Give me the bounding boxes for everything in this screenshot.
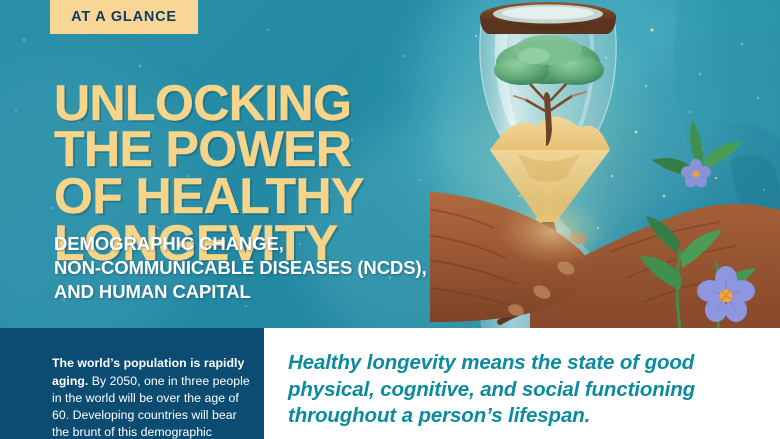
tree-canopy-left [494,55,550,85]
glass-highlight-right [568,24,592,152]
quote-line-2: physical, cognitive, and social function… [288,377,758,404]
at-a-glance-badge: AT A GLANCE [50,0,198,34]
quote-line-3: throughout a person’s lifespan. [288,403,758,430]
tree-canopy-right [548,55,604,85]
sand-mound [490,116,610,171]
fingernails [507,229,589,317]
flower-center-large [720,290,733,303]
background-shapes [620,0,780,328]
background-shadow-sweep [560,0,780,328]
leaf-7 [652,158,690,176]
tree-root-below [500,222,598,322]
sand-shadow [518,154,580,182]
leaf-3 [646,216,680,252]
tree-twigs [514,76,586,100]
healthy-longevity-definition-quote: Healthy longevity means the state of goo… [288,350,758,430]
at-a-glance-badge-label: AT A GLANCE [71,9,177,25]
lower-section: The world’s population is rapidly aging.… [0,328,780,439]
leaf-4 [714,268,756,300]
statistic-panel: The world’s population is rapidly aging.… [0,328,264,439]
quote-line-1: Healthy longevity means the state of goo… [288,350,758,377]
root-trunk [526,222,570,310]
tree-canopy-highlight [518,48,550,64]
hourglass-lower-bulb [480,200,616,328]
tree-branches [526,82,572,112]
hand-glow [498,198,606,266]
sand-funnel [490,150,610,232]
page-subtitle: DEMOGRAPHIC CHANGE, NON-COMMUNICABLE DIS… [54,232,484,304]
flower-stem-2 [716,262,720,328]
right-hand [530,204,780,328]
tree-trunk [544,92,552,146]
subtitle-line-3: AND HUMAN CAPITAL [54,280,484,304]
statistic-text: The world’s population is rapidly aging.… [52,355,257,439]
flower-stem-1 [677,250,680,328]
glass-highlight [495,26,530,158]
hourglass-rim-band [480,16,616,34]
hourglass-top-gloss [502,7,594,20]
subtitle-line-2: NON-COMMUNICABLE DISEASES (NCDs), [54,256,484,280]
blue-flower-small [681,159,711,188]
at-a-glance-infographic-page: AT A GLANCE UNLOCKING THE POWER OF HEALT… [0,0,780,439]
acacia-tree [494,35,604,146]
hourglass [480,2,616,328]
hourglass-top-rim [480,2,616,30]
plants [640,120,756,328]
blue-flower-large [697,266,755,322]
flower-center [693,171,700,178]
hourglass-top-opening [493,5,603,24]
hourglass-upper-bulb [480,16,616,200]
leaf-6 [704,142,742,170]
right-hand-creases [610,222,750,302]
leaf-2 [680,230,722,268]
title-line-3: OF HEALTHY [54,173,474,220]
tree-canopy-main [496,40,600,84]
subtitle-line-1: DEMOGRAPHIC CHANGE, [54,232,484,256]
tree-canopy-top [514,35,582,65]
hero-banner: AT A GLANCE UNLOCKING THE POWER OF HEALT… [0,0,780,328]
leaf-5 [690,120,703,166]
title-line-1: UNLOCKING [54,80,474,127]
title-line-2: THE POWER [54,126,474,173]
root-spread [500,310,598,322]
leaf-1 [640,256,682,290]
